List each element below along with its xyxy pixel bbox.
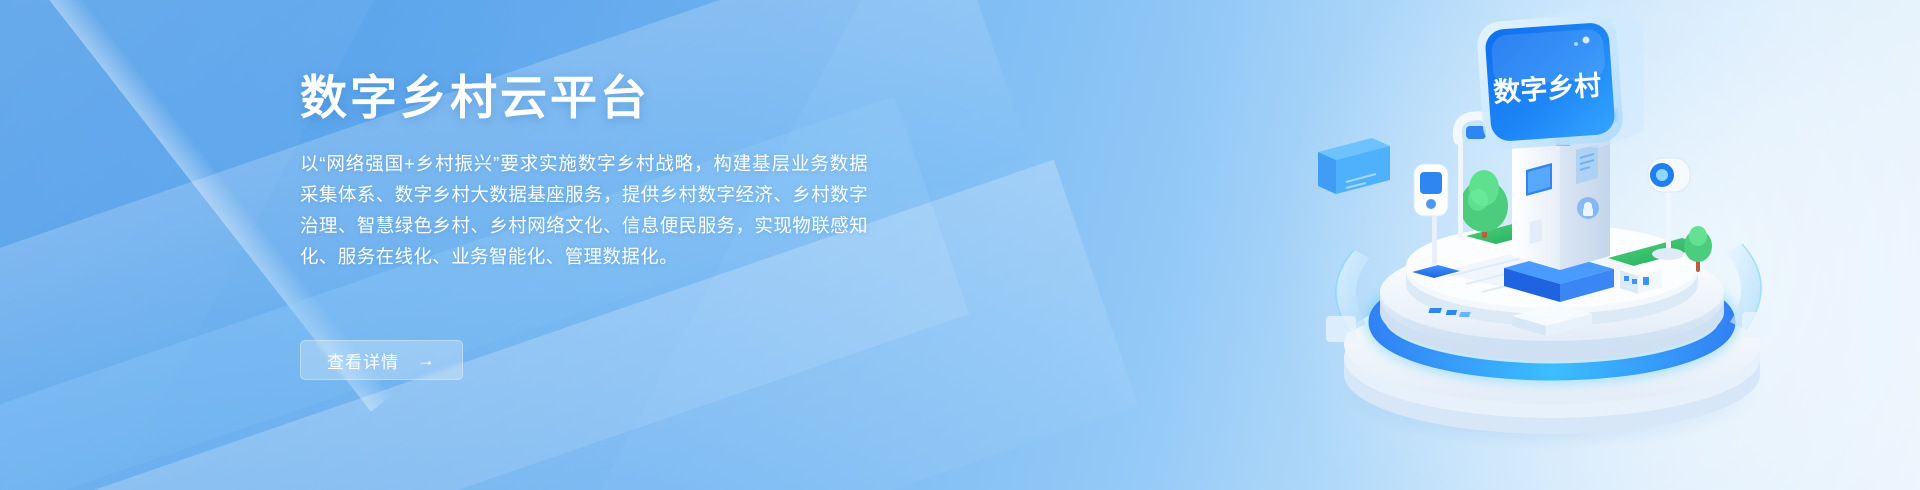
hero-banner: 数字乡村云平台 以“网络强国+乡村振兴”要求实施数字乡村战略，构建基层业务数据采… [0, 0, 1920, 490]
floating-card [1318, 138, 1390, 194]
billboard-sign: 数字乡村 [1476, 8, 1644, 151]
hero-content: 数字乡村云平台 以“网络强国+乡村振兴”要求实施数字乡村战略，构建基层业务数据采… [300, 0, 900, 490]
rail-tab-right [1742, 312, 1772, 338]
digital-village-illustration: 数字乡村 [1290, 0, 1810, 490]
page-title: 数字乡村云平台 [300, 74, 650, 121]
view-details-label: 查看详情 [327, 348, 399, 373]
arrow-right-icon: → [417, 351, 436, 369]
hero-description: 以“网络强国+乡村振兴”要求实施数字乡村战略，构建基层业务数据采集体系、数字乡村… [300, 148, 868, 272]
rail-tab-left [1326, 316, 1356, 342]
view-details-button[interactable]: 查看详情 → [300, 340, 463, 380]
